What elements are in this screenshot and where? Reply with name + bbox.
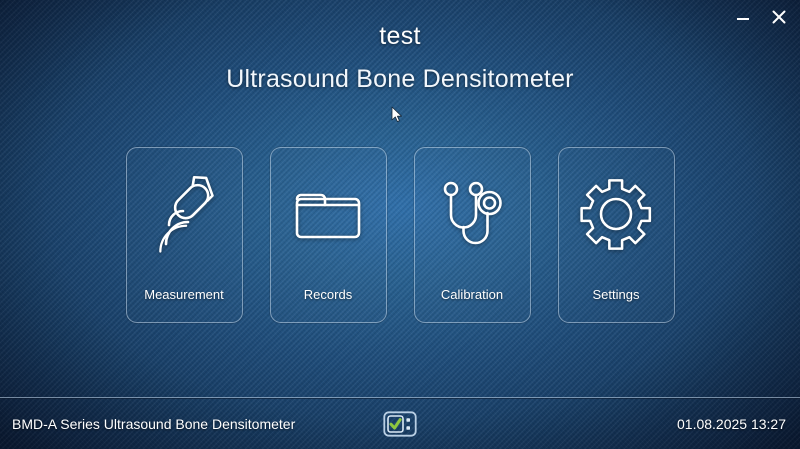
folder-icon xyxy=(289,172,367,256)
menu-tile-label: Settings xyxy=(593,287,640,302)
menu-tile-settings[interactable]: Settings xyxy=(558,147,675,323)
minimize-button[interactable] xyxy=(732,6,754,28)
menu-tile-calibration[interactable]: Calibration xyxy=(414,147,531,323)
ultrasound-probe-icon xyxy=(145,172,223,256)
menu-tile-label: Measurement xyxy=(144,287,223,302)
minimize-icon xyxy=(733,7,753,27)
menu-tile-label: Calibration xyxy=(441,287,503,302)
page-subtitle: Ultrasound Bone Densitometer xyxy=(0,67,800,92)
menu-tile-records[interactable]: Records xyxy=(270,147,387,323)
close-button[interactable] xyxy=(768,6,790,28)
page-title: test xyxy=(0,24,800,49)
close-icon xyxy=(769,7,789,27)
header: test Ultrasound Bone Densitometer xyxy=(0,24,800,92)
gear-icon xyxy=(577,172,655,256)
application-window: test Ultrasound Bone Densitometer xyxy=(0,0,800,449)
stethoscope-icon xyxy=(433,172,511,256)
usb-drive-check-icon[interactable] xyxy=(383,411,417,437)
main-menu: Measurement Records xyxy=(0,147,800,323)
menu-tile-label: Records xyxy=(304,287,352,302)
window-controls xyxy=(732,6,790,28)
status-datetime: 01.08.2025 13:27 xyxy=(677,416,786,432)
status-bar: BMD-A Series Ultrasound Bone Densitomete… xyxy=(0,399,800,449)
menu-tile-measurement[interactable]: Measurement xyxy=(126,147,243,323)
